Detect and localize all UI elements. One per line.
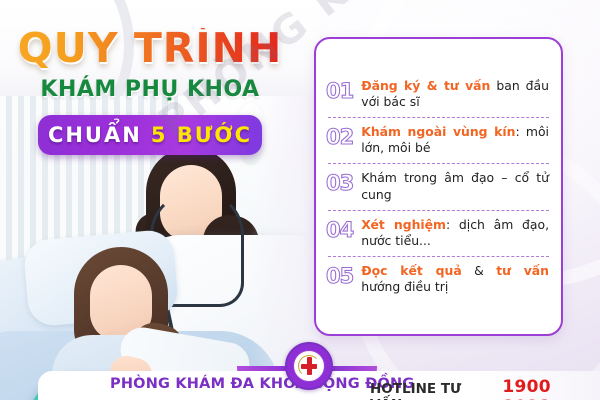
- step-normal: hướng điều trị: [361, 279, 448, 294]
- clinic-name: PHÒNG KHÁM ĐA KHOA CỘNG ĐỒNG: [110, 376, 414, 392]
- step-text: Đọc kết quả & tư vấn hướng điều trị: [361, 263, 549, 295]
- step-highlight: Đăng ký & tư vấn: [361, 78, 490, 93]
- step-highlight: Khám ngoài vùng kín: [361, 124, 515, 139]
- step-text: Khám trong âm đạo – cổ tử cung: [361, 170, 549, 202]
- standard-steps-badge: CHUẨN 5 BƯỚC: [38, 115, 262, 155]
- logo-inner-emblem: [293, 350, 325, 382]
- step-number: 02: [326, 126, 353, 148]
- medical-cross-icon: [301, 364, 317, 369]
- clinic-logo: [285, 342, 333, 390]
- step-number: 01: [326, 80, 353, 102]
- badge-label-steps: 5 BƯỚC: [151, 123, 252, 147]
- promo-banner: QUY TRÌNH KHÁM PHỤ KHOA CHUẨN 5 BƯỚC PHÒ…: [0, 0, 600, 400]
- page-title: QUY TRÌNH: [0, 28, 300, 69]
- step-text: Đăng ký & tư vấn ban đầu với bác sĩ: [361, 78, 549, 110]
- step-number: 03: [326, 172, 353, 194]
- step-normal: Khám trong âm đạo – cổ tử cung: [361, 170, 549, 201]
- list-item: 02 Khám ngoài vùng kín: môi lớn, môi bé: [316, 117, 561, 163]
- hotline-label: HOTLINE TƯ VẤN:: [370, 381, 496, 400]
- step-number: 04: [326, 219, 353, 241]
- step-text: Khám ngoài vùng kín: môi lớn, môi bé: [361, 124, 549, 156]
- steps-card: 01 Đăng ký & tư vấn ban đầu với bác sĩ 0…: [314, 37, 563, 336]
- list-item: 01 Đăng ký & tư vấn ban đầu với bác sĩ: [316, 71, 561, 117]
- list-item: 03 Khám trong âm đạo – cổ tử cung: [316, 163, 561, 209]
- hotline-block: HOTLINE TƯ VẤN: 1900 1021: [370, 377, 600, 400]
- step-number: 05: [326, 265, 353, 287]
- step-text: Xét nghiệm: dịch âm đạo, nước tiểu...: [361, 217, 549, 249]
- step-highlight: Xét nghiệm: [361, 217, 446, 232]
- badge-label-chuan: CHUẨN: [48, 123, 142, 147]
- step-normal: &: [462, 263, 497, 278]
- list-item: 04 Xét nghiệm: dịch âm đạo, nước tiểu...: [316, 210, 561, 256]
- step-highlight: Đọc kết quả: [361, 263, 461, 278]
- hotline-number[interactable]: 1900 1021: [502, 377, 600, 400]
- page-subtitle: KHÁM PHỤ KHOA: [0, 77, 300, 102]
- list-item: 05 Đọc kết quả & tư vấn hướng điều trị: [316, 256, 561, 302]
- step-highlight: tư vấn: [496, 263, 549, 278]
